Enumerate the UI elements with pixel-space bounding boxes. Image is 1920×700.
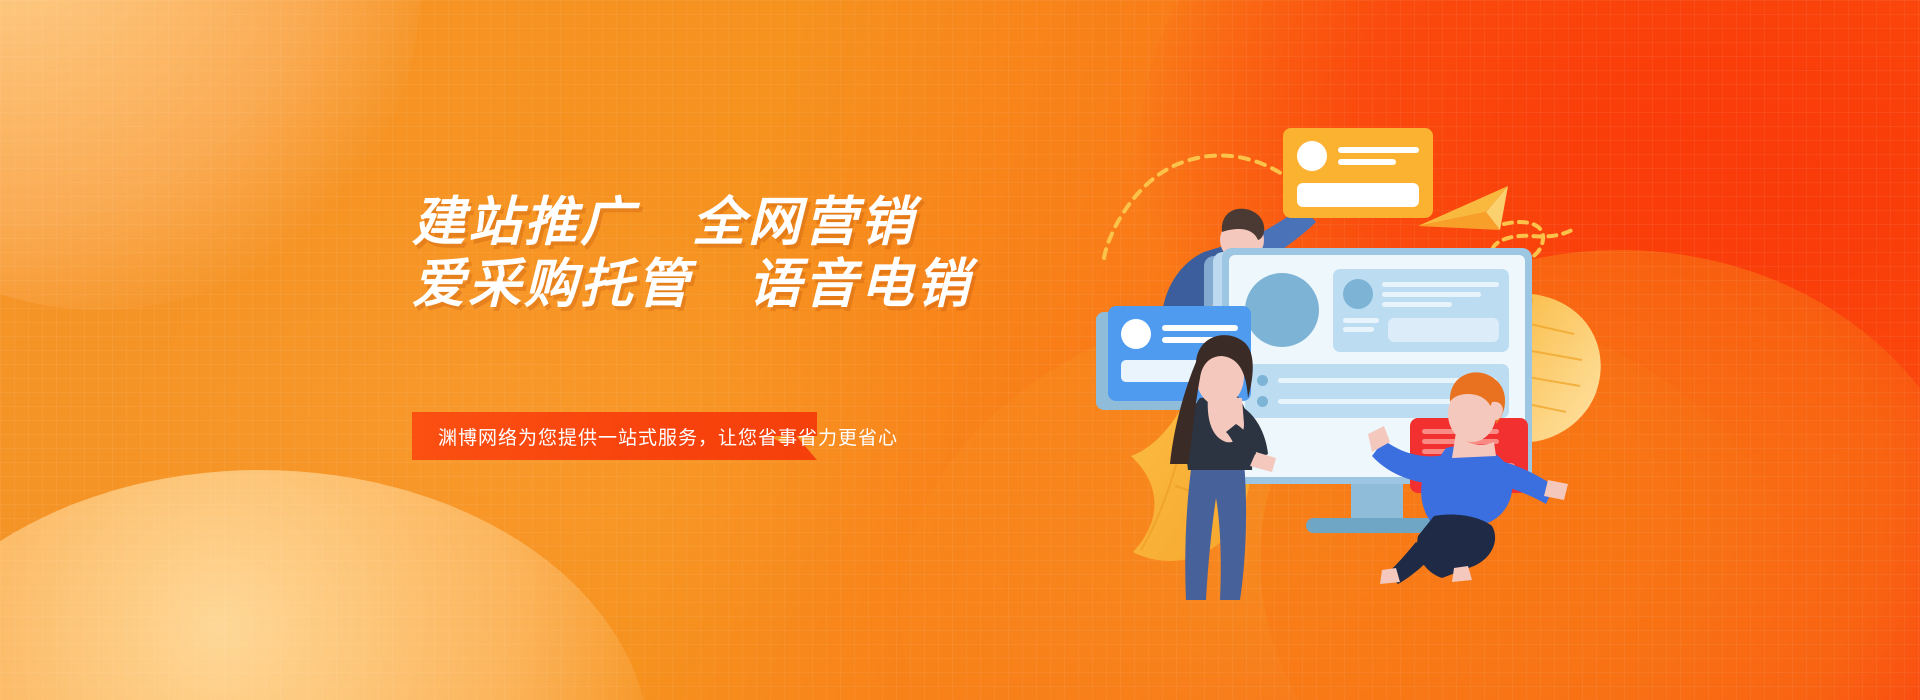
hero-illustration <box>1090 100 1850 620</box>
screen-text-line <box>1382 282 1499 287</box>
yellow-card-lines <box>1338 147 1419 165</box>
headline-block: 建站推广 全网营销 爱采购托管 语音电销 <box>412 192 1012 316</box>
headline-line-1: 建站推广 全网营销 <box>412 192 1012 254</box>
screen-profile-lines <box>1382 279 1499 309</box>
screen-text-line <box>1343 327 1374 332</box>
person-standing-woman <box>1152 312 1282 612</box>
screen-text-line <box>1343 318 1379 323</box>
screen-mini-lines <box>1343 318 1379 332</box>
tagline-ribbon-content: 渊博网络为您提供一站式服务，让您省事省力更省心 <box>412 412 817 460</box>
screen-profile-top <box>1343 279 1499 309</box>
yellow-card-bar <box>1297 183 1419 207</box>
yellow-floating-card <box>1283 128 1433 218</box>
yellow-card-top <box>1297 141 1419 171</box>
card-text-line <box>1338 159 1396 165</box>
yellow-card-avatar <box>1297 141 1327 171</box>
headline-line-2: 爱采购托管 语音电销 <box>412 254 1012 316</box>
person-sitting-man <box>1350 336 1580 586</box>
screen-text-line <box>1382 292 1481 297</box>
card-text-line <box>1338 147 1419 153</box>
tagline-text: 渊博网络为您提供一站式服务，让您省事省力更省心 <box>412 423 898 450</box>
screen-avatar <box>1343 279 1373 309</box>
screen-text-line <box>1382 302 1452 307</box>
promo-banner: 建站推广 全网营销 爱采购托管 语音电销 渊博网络为您提供一站式服务，让您省事省… <box>0 0 1920 700</box>
blue-card-avatar <box>1121 319 1151 349</box>
